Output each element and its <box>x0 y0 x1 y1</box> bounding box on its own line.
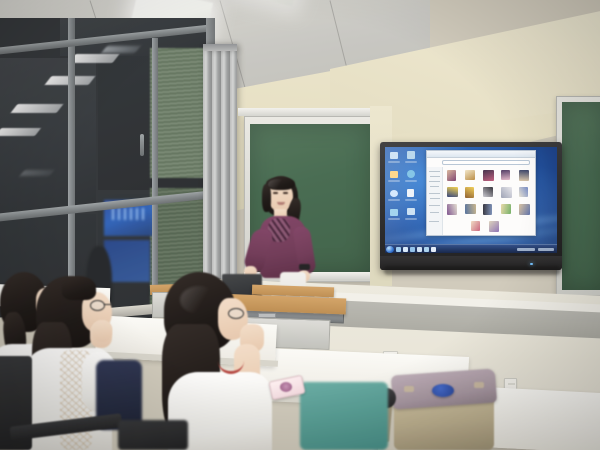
nav-item[interactable] <box>430 198 440 199</box>
student-2-hair-front <box>62 276 96 300</box>
taskbar-icon[interactable] <box>424 247 429 252</box>
icon-label-1 <box>388 161 400 163</box>
student-3-hair-sheen <box>180 286 218 314</box>
teal-bag[interactable] <box>300 382 388 450</box>
clock[interactable] <box>538 248 554 251</box>
nav-item[interactable] <box>429 181 440 182</box>
phone-case-art <box>280 382 292 392</box>
windows-taskbar[interactable] <box>385 244 557 253</box>
student-2-fingers <box>92 320 112 342</box>
icon-label-4 <box>405 180 417 182</box>
side-chalkboard <box>562 102 600 290</box>
image-thumbnail[interactable] <box>489 221 499 232</box>
image-thumbnail[interactable] <box>465 204 476 214</box>
start-orb-icon[interactable] <box>386 246 394 253</box>
image-thumbnail[interactable] <box>465 170 475 180</box>
image-thumbnail[interactable] <box>501 204 511 214</box>
display-shadow <box>384 266 560 275</box>
image-thumbnail[interactable] <box>447 170 456 181</box>
image-thumbnail[interactable] <box>519 204 530 215</box>
icon-label-7 <box>388 218 400 220</box>
nav-item[interactable] <box>430 176 440 177</box>
image-thumbnail[interactable] <box>519 187 528 197</box>
my-computer-icon[interactable] <box>390 152 398 159</box>
system-tray[interactable] <box>517 248 535 251</box>
browser-icon[interactable] <box>407 170 415 178</box>
image-thumbnail[interactable] <box>483 170 494 181</box>
wall-display[interactable] <box>380 142 562 270</box>
explorer-address-bar[interactable] <box>442 160 530 165</box>
app-icon[interactable] <box>390 209 398 216</box>
student-3-glasses-icon <box>228 308 244 319</box>
image-thumbnail[interactable] <box>447 187 458 197</box>
chair-2[interactable] <box>118 420 188 450</box>
taskbar-icon[interactable] <box>396 247 401 252</box>
screen-reflection-bars <box>112 208 146 220</box>
folder-icon[interactable] <box>390 171 398 178</box>
chalkboard-top-trim <box>238 108 384 116</box>
icon-label-6 <box>405 199 417 201</box>
taskbar-icon[interactable] <box>431 247 436 252</box>
image-thumbnail[interactable] <box>501 187 512 198</box>
display-screen[interactable] <box>385 147 557 253</box>
icon-label-2 <box>405 161 417 163</box>
icon-label-5 <box>388 199 400 201</box>
light-reflection-2 <box>10 104 63 113</box>
taskbar-icon[interactable] <box>410 247 415 252</box>
nav-item[interactable] <box>429 171 440 172</box>
light-reflection-4 <box>68 54 119 63</box>
file-explorer-window[interactable] <box>426 150 536 236</box>
explorer-titlebar[interactable] <box>427 151 535 158</box>
image-thumbnail[interactable] <box>501 170 510 180</box>
backpack-tab-left <box>404 386 414 392</box>
image-thumbnail[interactable] <box>483 204 492 215</box>
glasses-bridge <box>104 304 112 305</box>
nav-item[interactable] <box>429 205 440 206</box>
power-led-icon <box>530 263 533 265</box>
curtain[interactable] <box>203 48 237 306</box>
backpack-tab-right <box>474 382 484 388</box>
light-reflection-5 <box>101 46 140 53</box>
image-thumbnail[interactable] <box>465 187 474 198</box>
outlet-slot <box>508 383 515 385</box>
light-reflection-3 <box>0 128 41 136</box>
media-player-icon[interactable] <box>390 190 398 197</box>
classroom-photo <box>0 0 600 450</box>
image-thumbnail[interactable] <box>471 221 480 231</box>
nav-item[interactable] <box>430 186 439 187</box>
icon-label-8 <box>405 218 417 220</box>
document-icon[interactable] <box>407 189 414 197</box>
nav-item[interactable] <box>429 221 439 222</box>
window-sash-handle[interactable] <box>140 134 144 156</box>
thumbnail-grid[interactable] <box>445 170 533 233</box>
image-thumbnail[interactable] <box>483 187 493 197</box>
recycle-bin-icon[interactable] <box>407 151 415 159</box>
icon-label-3 <box>388 180 400 182</box>
teacher-hair-side <box>262 184 271 212</box>
teacher-eye-right <box>283 192 288 194</box>
taskbar-icon[interactable] <box>417 247 422 252</box>
nav-item[interactable] <box>430 212 439 213</box>
teacher-eye-left <box>273 192 278 194</box>
image-thumbnail[interactable] <box>519 170 529 181</box>
teacher-watch <box>299 264 310 270</box>
glasses-icon <box>90 300 105 311</box>
backpack-logo-icon <box>432 384 454 397</box>
nav-item[interactable] <box>429 193 440 194</box>
explorer-navigation-pane[interactable] <box>427 167 443 235</box>
teacher-hair-sheen <box>268 179 288 189</box>
taskbar-icon[interactable] <box>403 247 408 252</box>
curtain-rail-shadow <box>203 44 237 51</box>
image-thumbnail[interactable] <box>447 204 457 215</box>
setup-icon[interactable] <box>407 208 415 215</box>
light-reflection-6 <box>20 170 55 176</box>
